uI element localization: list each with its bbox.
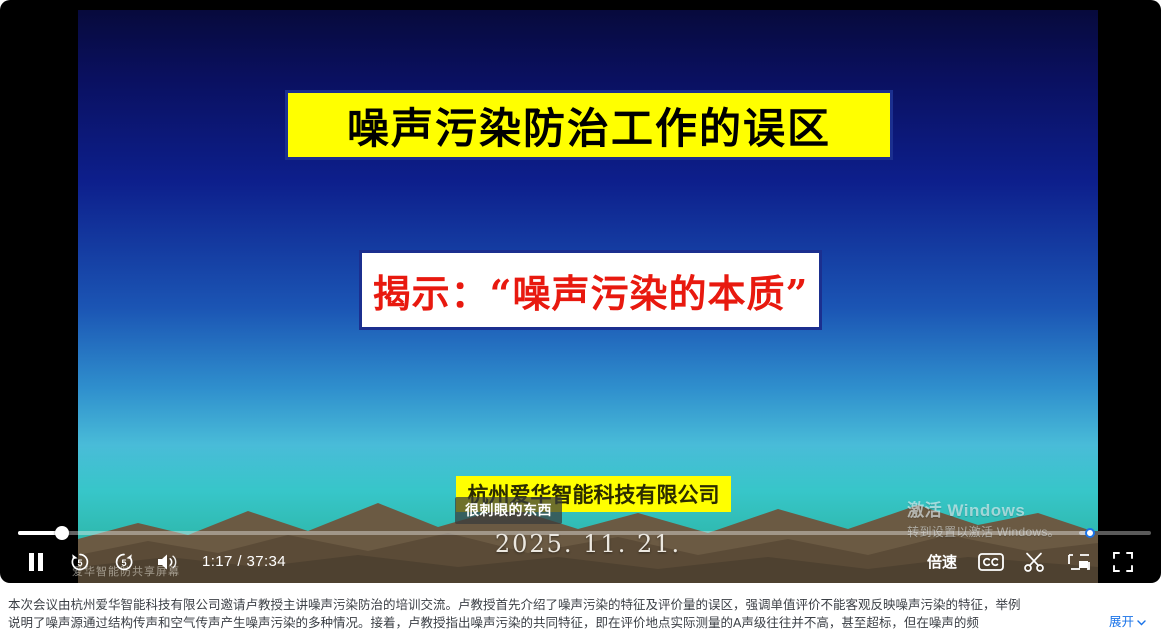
volume-icon [155, 551, 181, 573]
slide-subtitle-text: 揭示：“噪声污染的本质” [373, 263, 809, 318]
fullscreen-icon [1112, 551, 1134, 573]
rewind-5-button[interactable]: 5 [58, 542, 102, 582]
picture-in-picture-button[interactable] [1057, 542, 1101, 582]
player-controls-right: 倍速 [915, 542, 1161, 582]
player-control-bar: 5 5 1:17 / 37:34 [0, 540, 1161, 583]
slide-title-text: 噪声污染防治工作的误区 [347, 95, 831, 156]
clip-button[interactable] [1013, 542, 1057, 582]
page-root: 噪声污染防治工作的误区 揭示：“噪声污染的本质” 杭州爱华智能科技有限公司 20… [0, 0, 1161, 637]
video-caption-bubble: 很刺眼的东西 [455, 497, 562, 524]
volume-slider-handle[interactable] [1085, 528, 1095, 538]
progress-bar[interactable] [0, 526, 1161, 540]
description-line-1: 本次会议由杭州爱华智能科技有限公司邀请卢教授主讲噪声污染防治的培训交流。卢教授首… [8, 596, 1153, 614]
volume-slider[interactable] [1079, 528, 1151, 538]
slide-subtitle-box: 揭示：“噪声污染的本质” [359, 250, 822, 330]
expand-label: 展开 [1109, 613, 1134, 631]
forward-5-label: 5 [102, 542, 146, 582]
time-display: 1:17 / 37:34 [202, 553, 286, 570]
video-player[interactable]: 噪声污染防治工作的误区 揭示：“噪声污染的本质” 杭州爱华智能科技有限公司 20… [0, 0, 1161, 583]
chevron-down-icon [1136, 617, 1147, 628]
expand-description-button[interactable]: 展开 [1097, 613, 1147, 631]
fullscreen-button[interactable] [1101, 542, 1145, 582]
forward-5-button[interactable]: 5 [102, 542, 146, 582]
picture-in-picture-icon [1067, 552, 1091, 572]
rewind-5-label: 5 [58, 542, 102, 582]
captions-button[interactable] [969, 542, 1013, 582]
playback-speed-button[interactable]: 倍速 [915, 551, 969, 572]
cc-icon [978, 552, 1004, 572]
pause-button[interactable] [14, 542, 58, 582]
video-description: 本次会议由杭州爱华智能科技有限公司邀请卢教授主讲噪声污染防治的培训交流。卢教授首… [0, 592, 1161, 637]
description-fade [1021, 614, 1091, 632]
description-line-2-wrap: 说明了噪声源通过结构传声和空气传声产生噪声污染的多种情况。接着，卢教授指出噪声污… [8, 614, 1153, 632]
scissors-icon [1023, 551, 1047, 573]
pause-icon [27, 552, 45, 572]
progress-track[interactable] [18, 531, 1098, 535]
player-controls-left: 5 5 1:17 / 37:34 [0, 542, 286, 582]
slide-title-banner: 噪声污染防治工作的误区 [285, 90, 893, 160]
video-frame[interactable]: 噪声污染防治工作的误区 揭示：“噪声污染的本质” 杭州爱华智能科技有限公司 20… [78, 10, 1098, 583]
progress-handle[interactable] [55, 526, 69, 540]
volume-button[interactable] [146, 542, 190, 582]
description-line-2: 说明了噪声源通过结构传声和空气传声产生噪声污染的多种情况。接着，卢教授指出噪声污… [8, 616, 979, 630]
